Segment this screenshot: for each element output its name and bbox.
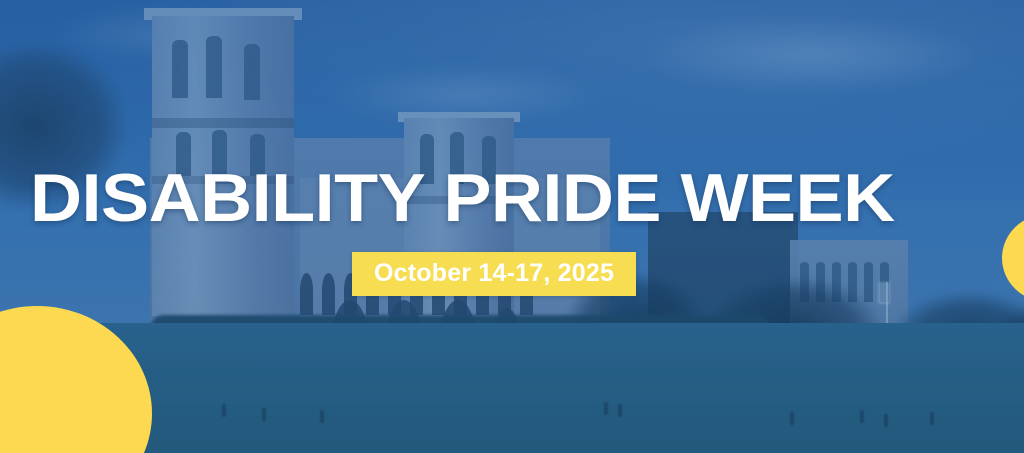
banner-content: DISABILITY PRIDE WEEK October 14-17, 202… [0, 0, 1024, 453]
disability-pride-week-banner: DISABILITY PRIDE WEEK October 14-17, 202… [0, 0, 1024, 453]
page-title: DISABILITY PRIDE WEEK [30, 161, 895, 235]
event-date-badge: October 14-17, 2025 [352, 252, 636, 296]
